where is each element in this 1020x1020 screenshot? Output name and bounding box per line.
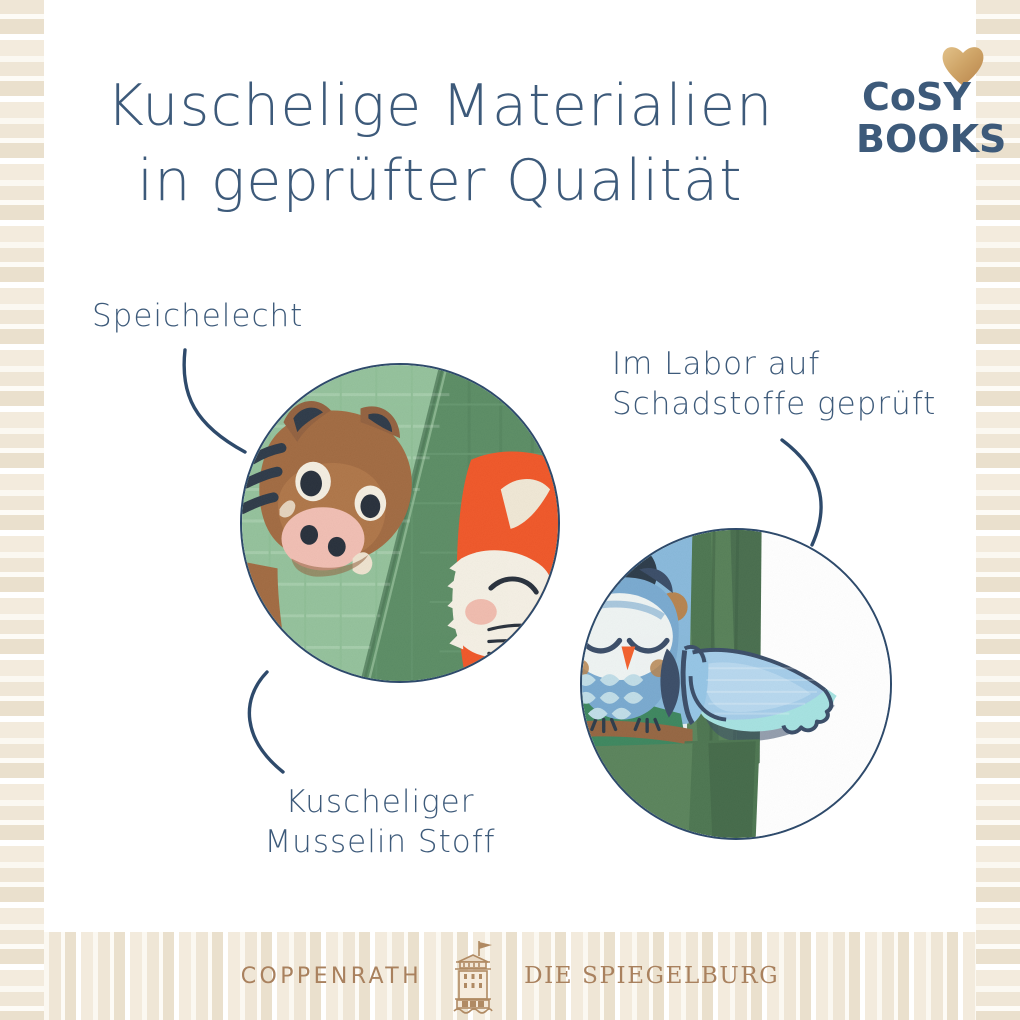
- callout-label-musselin: Kuscheliger Musselin Stoff: [250, 782, 510, 863]
- logo-line1: CoSY: [862, 78, 971, 116]
- brand-spiegelburg: DIE SPIEGELBURG: [524, 963, 779, 989]
- brand-coppenrath: COPPENRATH: [241, 964, 422, 989]
- callout-label-labor: Im Labor auf Schadstoffe geprüft: [612, 344, 936, 425]
- page-title-line1: Kuschelige Materialien: [60, 78, 820, 135]
- footer-brand: COPPENRATH: [0, 932, 1020, 1020]
- cosy-books-logo: CoSY BOOKS: [856, 42, 996, 157]
- poster-canvas: Kuschelige Materialien in geprüfter Qual…: [0, 0, 1020, 1020]
- logo-line2: BOOKS: [856, 120, 1006, 158]
- border-stripe-top: [0, 0, 1020, 44]
- photo-owl-wing-fabric: [580, 528, 892, 840]
- photo-boar-fox-fabric: [240, 363, 560, 683]
- castle-tower-icon: [444, 938, 502, 1014]
- callout-label-speichelecht: Speichelecht: [92, 296, 303, 336]
- border-stripe-left: [0, 0, 44, 1020]
- page-title-line2: in geprüfter Qualität: [60, 153, 820, 210]
- page-title: Kuschelige Materialien in geprüfter Qual…: [60, 78, 820, 210]
